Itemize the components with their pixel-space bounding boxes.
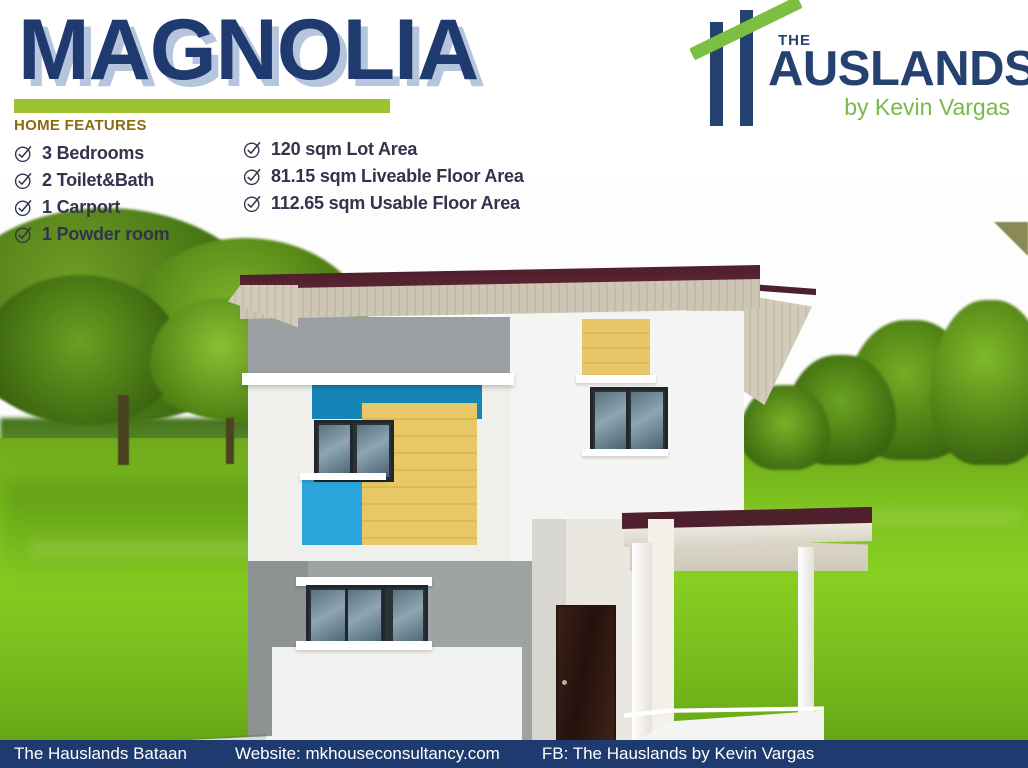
list-item: 112.65 sqm Usable Floor Area bbox=[243, 190, 524, 217]
list-item: 2 Toilet&Bath bbox=[14, 167, 169, 194]
footer-facebook[interactable]: FB: The Hauslands by Kevin Vargas bbox=[542, 744, 814, 764]
house bbox=[232, 275, 872, 768]
poster-canvas: MAGNOLIA HOME FEATURES 3 Bedrooms 2 Toil… bbox=[0, 0, 1028, 768]
list-item-label: 112.65 sqm Usable Floor Area bbox=[271, 193, 520, 214]
list-item: 120 sqm Lot Area bbox=[243, 136, 524, 163]
feature-list-primary: 3 Bedrooms 2 Toilet&Bath 1 Carport 1 Pow… bbox=[14, 140, 169, 248]
section-label: HOME FEATURES bbox=[14, 117, 147, 134]
window-head-sill bbox=[576, 375, 656, 383]
list-item-label: 1 Carport bbox=[42, 197, 120, 218]
footer-location: The Hauslands Bataan bbox=[14, 744, 187, 764]
check-circle-icon bbox=[243, 140, 262, 159]
footer-bar: The Hauslands Bataan Website: mkhousecon… bbox=[0, 740, 1028, 768]
list-item-label: 2 Toilet&Bath bbox=[42, 170, 154, 191]
list-item: 81.15 sqm Liveable Floor Area bbox=[243, 163, 524, 190]
check-circle-icon bbox=[14, 171, 33, 190]
blue-accent-panel-lower bbox=[302, 475, 362, 545]
tree-trunk bbox=[118, 395, 129, 465]
check-circle-icon bbox=[14, 225, 33, 244]
page-title: MAGNOLIA bbox=[18, 4, 478, 96]
footer-website[interactable]: Website: mkhouseconsultancy.com bbox=[235, 744, 500, 764]
house-photo bbox=[0, 180, 1028, 768]
list-item: 3 Bedrooms bbox=[14, 140, 169, 167]
window-sill bbox=[296, 641, 432, 650]
green-accent-bar bbox=[14, 99, 390, 113]
door-knob bbox=[562, 680, 567, 685]
list-item-label: 120 sqm Lot Area bbox=[271, 139, 417, 160]
upper-right-window bbox=[590, 387, 668, 455]
list-item-label: 81.15 sqm Liveable Floor Area bbox=[271, 166, 524, 187]
window-sill bbox=[300, 473, 386, 480]
list-item: 1 Powder room bbox=[14, 221, 169, 248]
list-item-label: 1 Powder room bbox=[42, 224, 169, 245]
carport-column bbox=[632, 543, 652, 765]
check-circle-icon bbox=[243, 194, 262, 213]
brand-logo[interactable]: THE AUSLANDS by Kevin Vargas bbox=[696, 10, 1012, 126]
logo-wordmark: AUSLANDS bbox=[768, 43, 1028, 95]
check-circle-icon bbox=[14, 144, 33, 163]
list-item-label: 3 Bedrooms bbox=[42, 143, 144, 164]
list-item: 1 Carport bbox=[14, 194, 169, 221]
title-block: MAGNOLIA bbox=[18, 4, 478, 96]
distant-roof-corner bbox=[994, 222, 1028, 256]
check-circle-icon bbox=[14, 198, 33, 217]
header: MAGNOLIA HOME FEATURES 3 Bedrooms 2 Toil… bbox=[0, 0, 1028, 180]
window-sill bbox=[582, 449, 668, 456]
check-circle-icon bbox=[243, 167, 262, 186]
feature-list-secondary: 120 sqm Lot Area 81.15 sqm Liveable Floo… bbox=[243, 136, 524, 217]
awning-ledge bbox=[242, 373, 514, 385]
logo-byline: by Kevin Vargas bbox=[844, 94, 1010, 121]
yellow-slat-panel bbox=[582, 319, 650, 377]
